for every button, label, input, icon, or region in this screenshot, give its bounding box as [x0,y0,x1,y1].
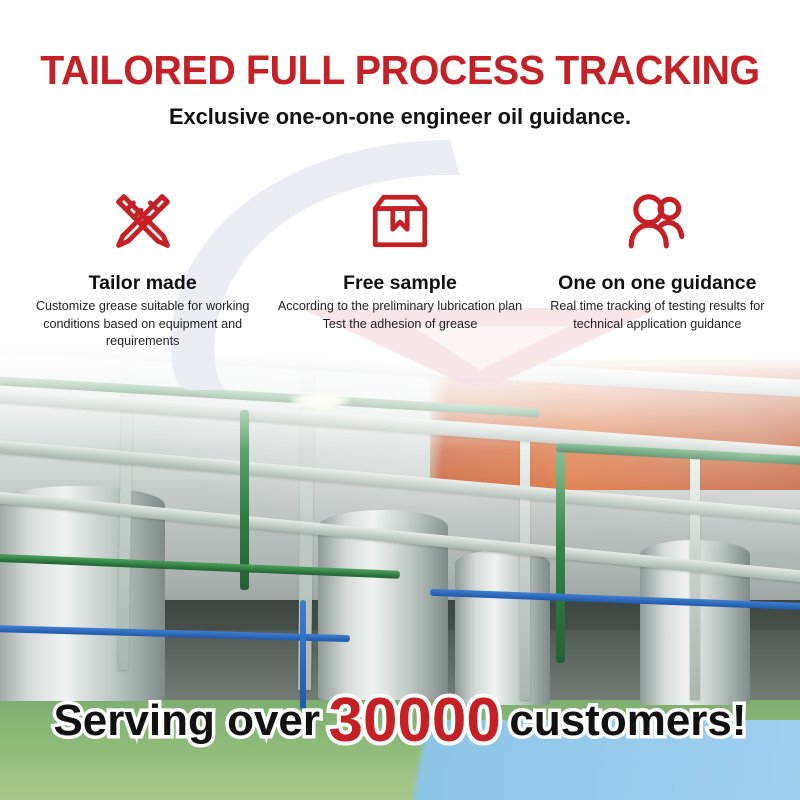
ceiling-lamp-icon [290,392,350,409]
bottom-banner: Serving over 30000 customers! [0,690,800,752]
storage-tank [455,550,550,705]
feature-item-one-on-one-guidance: One on one guidance Real time tracking o… [529,185,786,333]
two-people-icon [529,185,786,257]
poster-header: TAILORED FULL PROCESS TRACKING Exclusive… [0,0,800,130]
page-title: TAILORED FULL PROCESS TRACKING [16,50,784,91]
banner-customer-count: 30000 [324,690,504,752]
green-process-pipe [556,448,565,663]
ruler-pencil-crossed-icon [14,185,271,257]
support-column [520,430,530,700]
feature-title: Tailor made [14,273,271,294]
support-column [690,450,700,700]
feature-title: Free sample [271,273,528,294]
banner-suffix-text: customers! [509,699,746,743]
storage-tank [0,486,165,701]
green-process-pipe [240,410,249,590]
feature-item-tailor-made: Tailor made Customize grease suitable fo… [14,185,271,351]
banner-prefix-text: Serving over [53,699,320,743]
feature-description: According to the preliminary lubrication… [271,298,528,333]
feature-description: Customize grease suitable for working co… [14,298,271,350]
feature-item-free-sample: Free sample According to the preliminary… [271,185,528,333]
feature-list: Tailor made Customize grease suitable fo… [0,185,800,351]
page-subtitle: Exclusive one-on-one engineer oil guidan… [12,104,788,130]
marketing-poster: TAILORED FULL PROCESS TRACKING Exclusive… [0,0,800,800]
feature-description: Real time tracking of testing results fo… [529,298,786,333]
package-box-icon [271,185,528,257]
feature-title: One on one guidance [529,273,786,294]
